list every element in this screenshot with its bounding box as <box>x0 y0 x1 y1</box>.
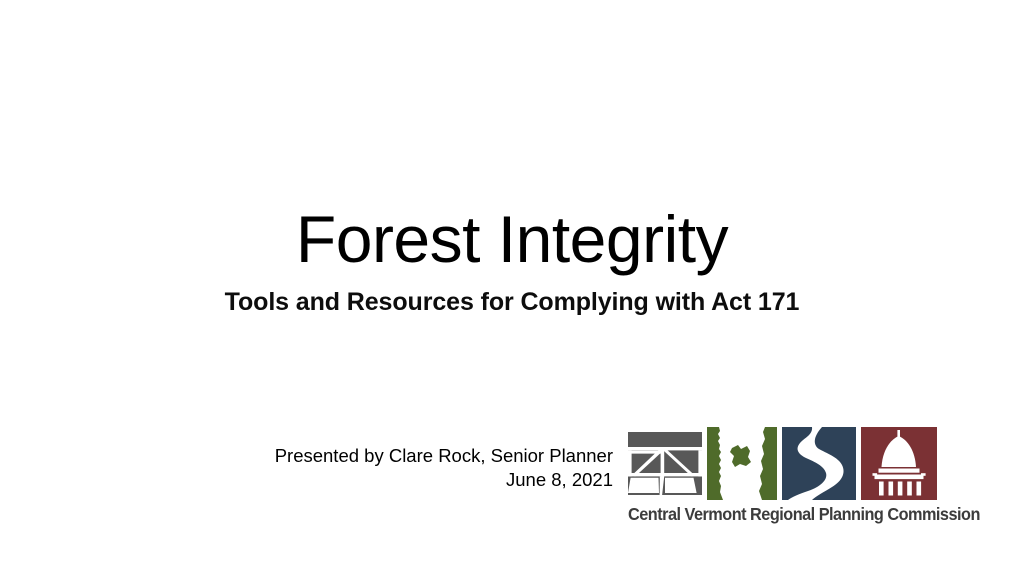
logo-panel-river <box>782 427 856 500</box>
logo-panel-vermont-outline <box>707 427 777 500</box>
page-title: Forest Integrity <box>0 206 1024 272</box>
slide-subtitle: Tools and Resources for Complying with A… <box>0 288 1024 317</box>
title-block: Forest Integrity Tools and Resources for… <box>0 206 1024 317</box>
logo-organization-name: Central Vermont Regional Planning Commis… <box>628 504 912 525</box>
capitol-dome-icon <box>861 427 937 500</box>
presenter-name-line: Presented by Clare Rock, Senior Planner <box>213 444 613 468</box>
presenter-block: Presented by Clare Rock, Senior Planner … <box>213 444 613 493</box>
presentation-date: June 8, 2021 <box>213 468 613 492</box>
vermont-outline-icon <box>707 427 777 500</box>
logo-panels <box>628 427 933 500</box>
covered-bridge-icon <box>628 427 702 500</box>
organization-logo: Central Vermont Regional Planning Commis… <box>628 427 933 525</box>
river-icon <box>782 427 856 500</box>
presentation-slide: Forest Integrity Tools and Resources for… <box>0 0 1024 576</box>
logo-panel-covered-bridge <box>628 427 702 500</box>
logo-panel-capitol-dome <box>861 427 937 500</box>
